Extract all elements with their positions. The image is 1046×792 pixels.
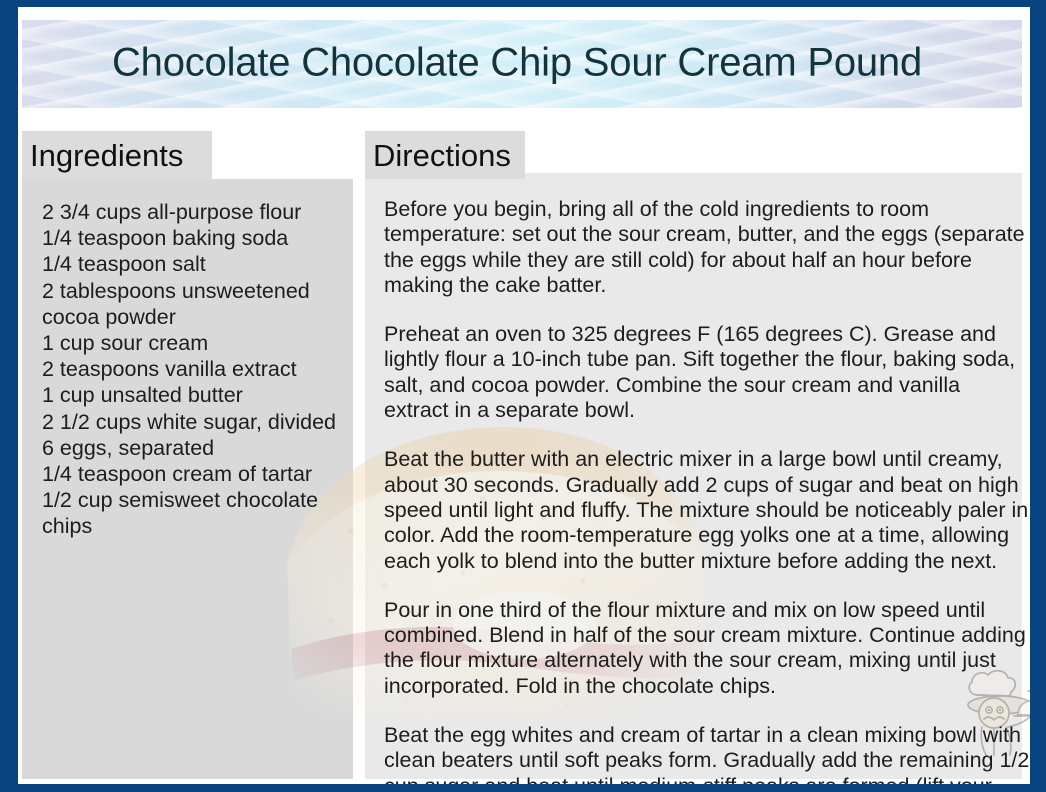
ingredient-item: 2 3/4 cups all-purpose flour [42, 199, 352, 225]
direction-paragraph: Preheat an oven to 325 degrees F (165 de… [384, 322, 1030, 423]
header-banner: Chocolate Chocolate Chip Sour Cream Poun… [22, 20, 1022, 108]
directions-text: Before you begin, bring all of the cold … [384, 197, 1030, 792]
ingredient-item: 2 teaspoons vanilla extract [42, 356, 352, 382]
direction-paragraph: Beat the egg whites and cream of tartar … [384, 723, 1030, 792]
ingredient-item: 1/2 cup semisweet chocolate chips [42, 487, 352, 539]
ingredient-item: 2 1/2 cups white sugar, divided [42, 409, 352, 435]
ingredient-item: 2 tablespoons unsweetened cocoa powder [42, 278, 352, 330]
direction-paragraph: Before you begin, bring all of the cold … [384, 197, 1030, 298]
page-title: Chocolate Chocolate Chip Sour Cream Poun… [22, 41, 1012, 86]
ingredients-list: 2 3/4 cups all-purpose flour1/4 teaspoon… [42, 199, 352, 540]
ingredient-item: 1/4 teaspoon salt [42, 251, 352, 277]
recipe-card: Chocolate Chocolate Chip Sour Cream Poun… [0, 0, 1046, 792]
tab-directions[interactable]: Directions [365, 131, 525, 179]
tab-ingredients-label: Ingredients [30, 138, 183, 173]
direction-paragraph: Pour in one third of the flour mixture a… [384, 598, 1030, 699]
direction-paragraph: Beat the butter with an electric mixer i… [384, 447, 1030, 573]
ingredient-item: 1 cup sour cream [42, 330, 352, 356]
ingredient-item: 1/4 teaspoon cream of tartar [42, 461, 352, 487]
ingredient-item: 6 eggs, separated [42, 435, 352, 461]
ingredient-item: 1 cup unsalted butter [42, 382, 352, 408]
tab-ingredients[interactable]: Ingredients [22, 131, 212, 179]
ingredient-item: 1/4 teaspoon baking soda [42, 225, 352, 251]
tab-directions-label: Directions [373, 138, 511, 173]
